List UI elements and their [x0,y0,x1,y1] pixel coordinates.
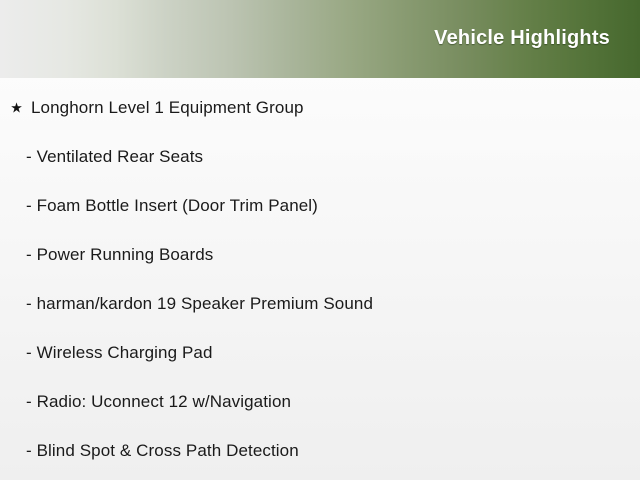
vehicle-highlights-slide: Vehicle Highlights ★Longhorn Level 1 Equ… [0,0,640,480]
list-item: - harman/kardon 19 Speaker Premium Sound [0,291,640,317]
list-item-label: Longhorn Level 1 Equipment Group [31,95,304,121]
list-item: - Power Running Boards [0,242,640,268]
list-item: - Foam Bottle Insert (Door Trim Panel) [0,193,640,219]
page-title: Vehicle Highlights [434,28,610,48]
list-item-label: - Wireless Charging Pad [26,340,213,366]
list-item: - Blind Spot & Cross Path Detection [0,438,640,464]
list-item-label: - Blind Spot & Cross Path Detection [26,438,299,464]
list-item: - Wireless Charging Pad [0,340,640,366]
list-item: ★Longhorn Level 1 Equipment Group [0,95,640,121]
list-item: - Radio: Uconnect 12 w/Navigation [0,389,640,415]
header-band: Vehicle Highlights [0,0,640,78]
star-icon: ★ [10,102,23,115]
list-item: - Ventilated Rear Seats [0,144,640,170]
list-item-label: - harman/kardon 19 Speaker Premium Sound [26,291,373,317]
list-item-label: - Foam Bottle Insert (Door Trim Panel) [26,193,318,219]
list-item-label: - Ventilated Rear Seats [26,144,203,170]
list-item-label: - Power Running Boards [26,242,213,268]
list-item-label: - Radio: Uconnect 12 w/Navigation [26,389,291,415]
highlights-list: ★Longhorn Level 1 Equipment Group- Venti… [0,78,640,480]
